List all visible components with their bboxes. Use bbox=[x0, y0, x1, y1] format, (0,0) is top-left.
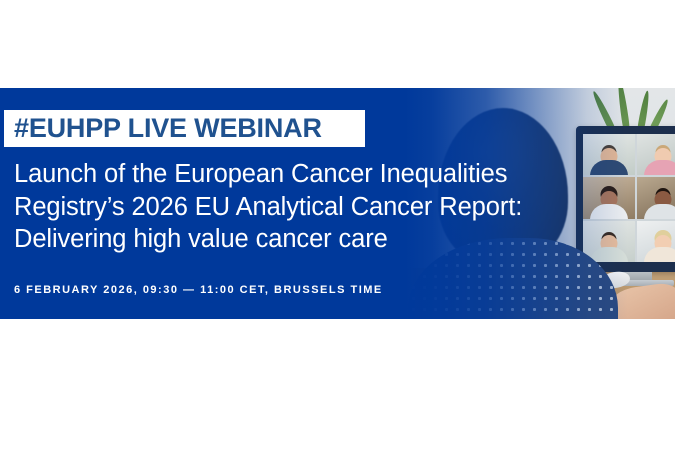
webinar-tag-box: #EUHPP LIVE WEBINAR bbox=[4, 110, 365, 147]
webinar-title: Launch of the European Cancer Inequaliti… bbox=[14, 158, 614, 256]
banner: #EUHPP LIVE WEBINAR Launch of the Europe… bbox=[0, 88, 675, 319]
title-line-1: Launch of the European Cancer Inequaliti… bbox=[14, 158, 614, 191]
webinar-datetime: 6 FEBRUARY 2026, 09:30 — 11:00 CET, BRUS… bbox=[14, 284, 383, 296]
webinar-tag-label: #EUHPP LIVE WEBINAR bbox=[4, 115, 322, 142]
banner-content: #EUHPP LIVE WEBINAR Launch of the Europe… bbox=[0, 88, 675, 319]
webinar-promo-banner-page: #EUHPP LIVE WEBINAR Launch of the Europe… bbox=[0, 0, 675, 450]
title-line-3: Delivering high value cancer care bbox=[14, 223, 614, 256]
title-line-2: Registry’s 2026 EU Analytical Cancer Rep… bbox=[14, 191, 614, 224]
